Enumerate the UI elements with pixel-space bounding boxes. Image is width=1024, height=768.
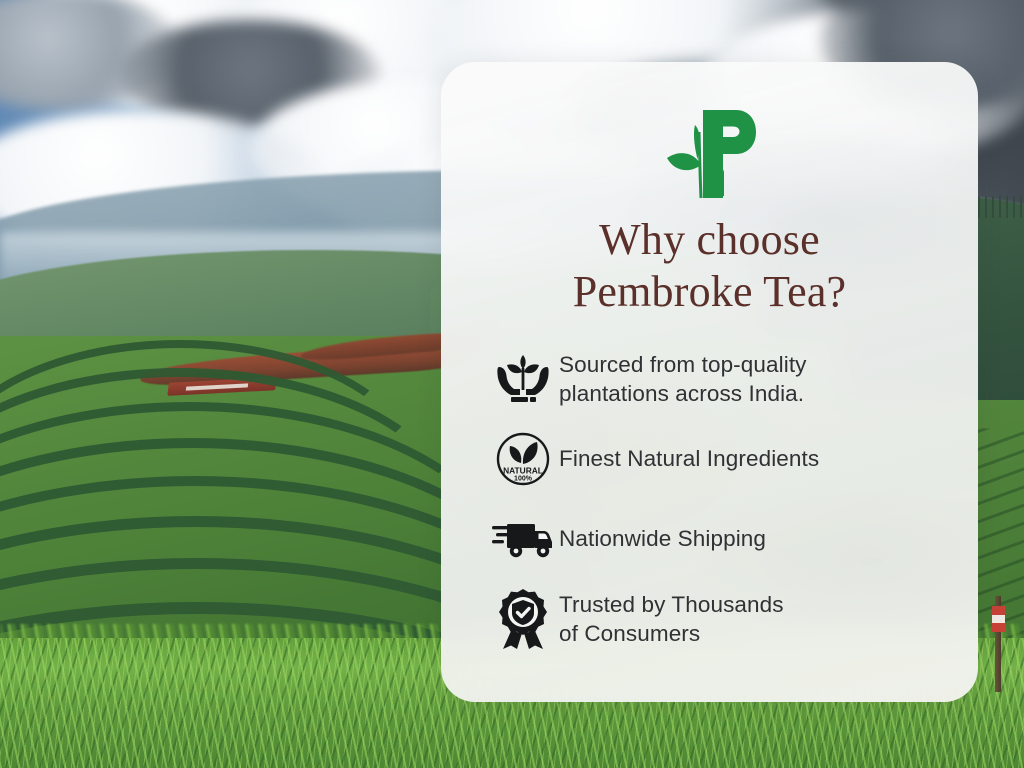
list-item: NATURAL 100% Finest Natural Ingredients: [487, 425, 950, 493]
why-choose-card: Why choose Pembroke Tea?: [441, 62, 978, 702]
natural-100-badge-icon: NATURAL 100%: [487, 432, 559, 486]
page-title: Why choose Pembroke Tea?: [441, 214, 978, 318]
list-item: Nationwide Shipping: [487, 505, 950, 573]
feature-list: Sourced from top-quality plantations acr…: [487, 345, 950, 653]
feature-3-line-1: Nationwide Shipping: [559, 524, 766, 553]
award-ribbon-check-icon: [487, 588, 559, 650]
field-marker-flag: [992, 606, 1005, 615]
field-marker-flag: [992, 615, 1005, 623]
heading-line-1: Why choose: [441, 214, 978, 266]
list-item-label: Finest Natural Ingredients: [559, 444, 819, 473]
feature-4-line-2: of Consumers: [559, 619, 784, 648]
brand-logo: [441, 102, 978, 202]
heading-line-2: Pembroke Tea?: [441, 266, 978, 318]
field-marker-flag: [992, 623, 1005, 632]
feature-2-line-1: Finest Natural Ingredients: [559, 444, 819, 473]
feature-4-line-1: Trusted by Thousands: [559, 590, 784, 619]
hands-holding-plant-icon: [487, 353, 559, 405]
feature-1-line-2: plantations across India.: [559, 379, 807, 408]
list-item: Sourced from top-quality plantations acr…: [487, 345, 950, 413]
list-item-label: Nationwide Shipping: [559, 524, 766, 553]
feature-1-line-1: Sourced from top-quality: [559, 350, 807, 379]
list-item-label: Sourced from top-quality plantations acr…: [559, 350, 807, 409]
pembroke-leaf-p-logo-icon: [662, 102, 758, 202]
list-item-label: Trusted by Thousands of Consumers: [559, 590, 784, 649]
list-item: Trusted by Thousands of Consumers: [487, 585, 950, 653]
badge-natural-label: NATURAL: [503, 466, 543, 476]
badge-percent-label: 100%: [514, 476, 533, 483]
delivery-truck-icon: [487, 519, 559, 559]
promo-screen: Why choose Pembroke Tea?: [0, 0, 1024, 768]
